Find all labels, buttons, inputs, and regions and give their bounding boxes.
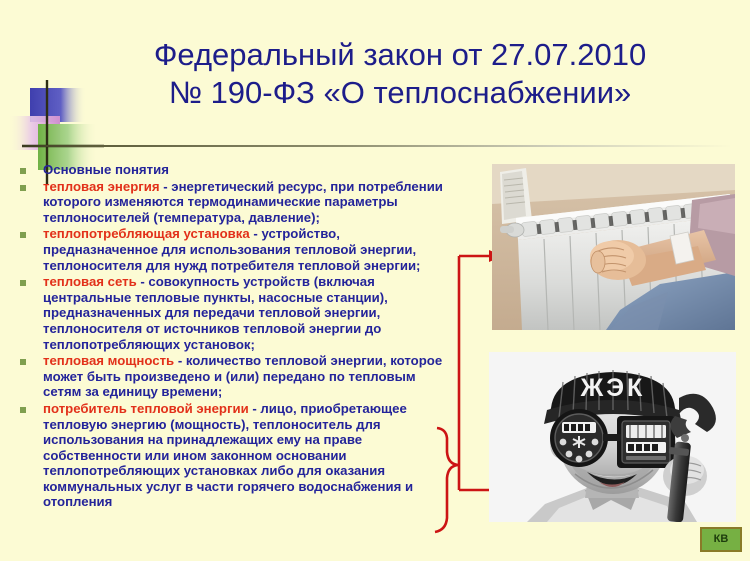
list-item: теплопотребляющая установка - устройство… [14, 226, 454, 273]
square-bullet-icon [20, 185, 26, 191]
list-item-text: теплопотребляющая установка - устройство… [43, 226, 454, 273]
list-item-term: теплопотребляющая установка [43, 226, 250, 241]
radiator-photo [492, 164, 735, 330]
square-bullet-icon [20, 168, 26, 174]
square-bullet-icon [20, 407, 26, 413]
list-item-text: потребитель тепловой энергии - лицо, при… [43, 401, 454, 510]
list-item-term: тепловая энергия [43, 179, 160, 194]
list-item: потребитель тепловой энергии - лицо, при… [14, 401, 454, 510]
list-item-term: тепловая мощность [43, 353, 174, 368]
slide-title: Федеральный закон от 27.07.2010 № 190-ФЗ… [80, 36, 720, 112]
square-bullet-icon [20, 232, 26, 238]
slide-canvas: Федеральный закон от 27.07.2010 № 190-ФЗ… [0, 0, 750, 561]
corner-badge-label: КВ [714, 534, 729, 545]
list-item: тепловая мощность - количество тепловой … [14, 353, 454, 400]
list-item: тепловая энергия - энергетический ресурс… [14, 179, 454, 226]
list-item-text: тепловая мощность - количество тепловой … [43, 353, 454, 400]
list-item-definition: Основные понятия [43, 162, 169, 177]
plumber-photo: ЖЭК [489, 352, 736, 522]
list-item-term: потребитель тепловой энергии [43, 401, 249, 416]
list-item-definition: - лицо, приобретающее тепловую энергию (… [43, 401, 413, 510]
title-divider-rule [22, 145, 732, 147]
list-item: тепловая сеть - совокупность устройств (… [14, 274, 454, 352]
list-item-term: тепловая сеть [43, 274, 137, 289]
list-item-text: тепловая сеть - совокупность устройств (… [43, 274, 454, 352]
list-item-text: Основные понятия [43, 162, 454, 178]
square-bullet-icon [20, 359, 26, 365]
slide-title-line-2: № 190-ФЗ «О теплоснабжении» [80, 74, 720, 112]
list-item-text: тепловая энергия - энергетический ресурс… [43, 179, 454, 226]
concepts-bullet-list: Основные понятия тепловая энергия - энер… [14, 162, 454, 511]
corner-badge: КВ [700, 527, 742, 552]
list-item: Основные понятия [14, 162, 454, 178]
slide-title-line-1: Федеральный закон от 27.07.2010 [80, 36, 720, 74]
square-bullet-icon [20, 280, 26, 286]
hat-text: ЖЭК [580, 374, 646, 402]
